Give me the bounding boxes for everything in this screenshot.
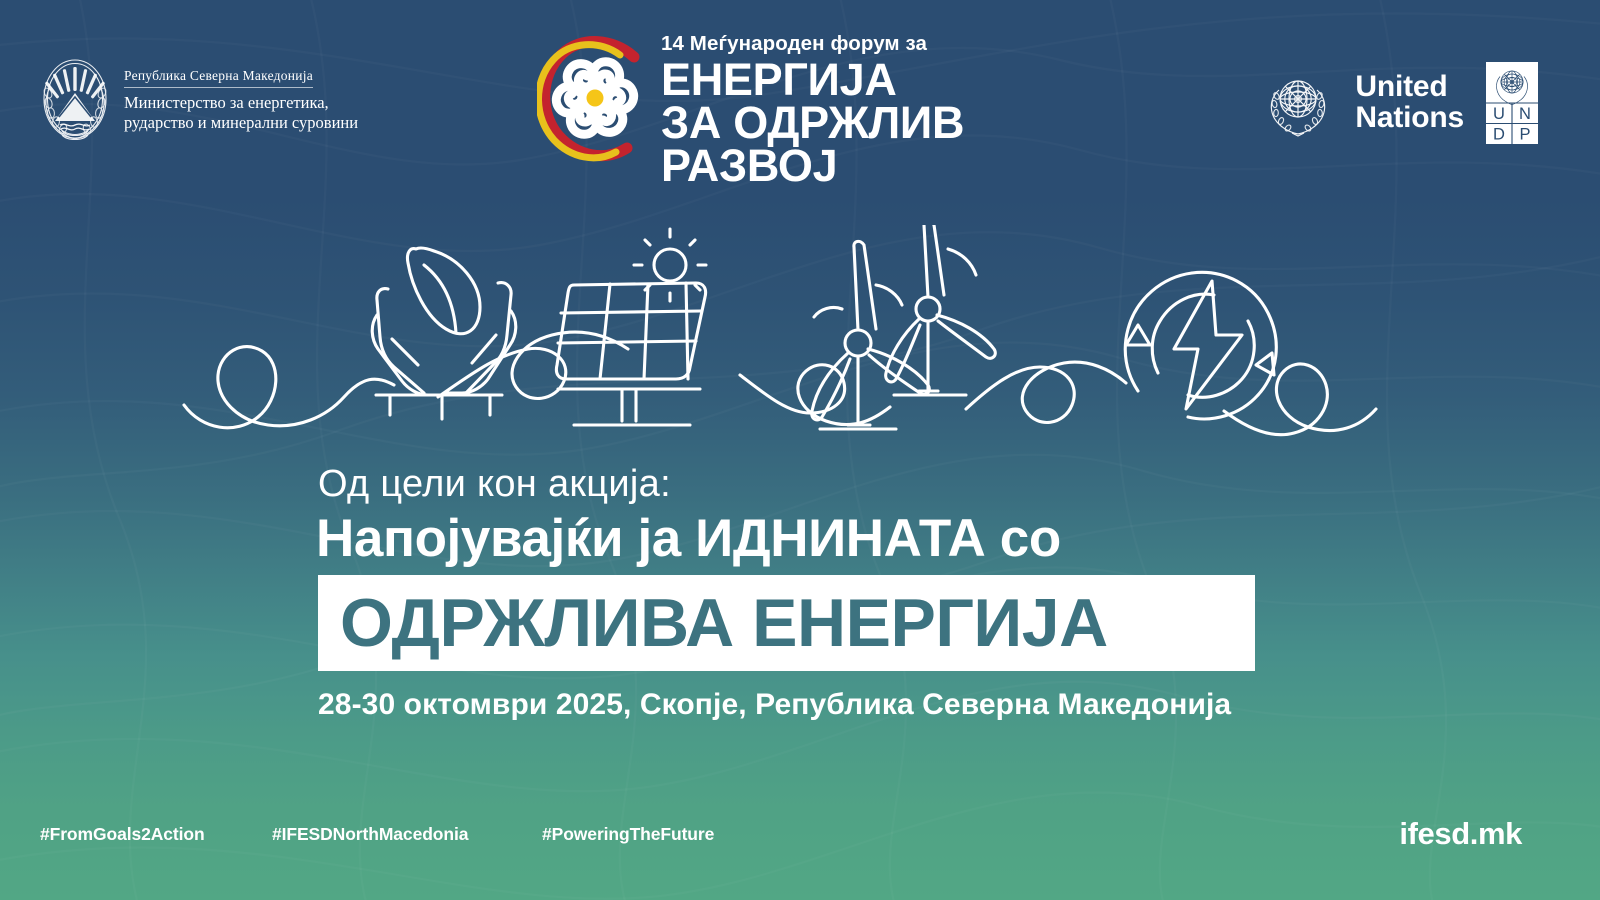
forum-title-line-3: РАЗВОЈ <box>661 145 964 187</box>
forum-title-line-1: ЕНЕРГИЈА <box>661 59 964 101</box>
macedonia-coat-of-arms-icon <box>38 55 112 143</box>
headline-text: Напојувајќи ја ИДНИНАТА со <box>0 509 1600 568</box>
forum-eyebrow-label: 14 Меѓународен форум за <box>661 34 964 55</box>
ifesd-flower-logo-icon <box>537 34 647 169</box>
website-link[interactable]: ifesd.mk <box>1399 816 1522 852</box>
headline-highlight-text: ОДРЖЛИВА ЕНЕРГИЈА <box>318 589 1108 657</box>
main-copy-block: Од цели кон акција: Напојувајќи ја ИДНИН… <box>0 462 1600 722</box>
hashtag-list: #FromGoals2Action #IFESDNorthMacedonia #… <box>40 824 714 845</box>
banner-footer: #FromGoals2Action #IFESDNorthMacedonia #… <box>0 780 1600 900</box>
hashtag-item[interactable]: #PoweringTheFuture <box>542 824 714 845</box>
svg-text:N: N <box>1519 105 1531 123</box>
event-banner: Република Северна Македонија Министерств… <box>0 0 1600 900</box>
hashtag-item[interactable]: #FromGoals2Action <box>40 824 272 845</box>
partner-logos: United Nations <box>1263 62 1538 144</box>
forum-title-line-2: ЗА ОДРЖЛИВ <box>661 102 964 144</box>
kicker-text: Од цели кон акција: <box>0 462 1600 507</box>
ministry-logo-lockup: Република Северна Македонија Министерств… <box>38 55 358 143</box>
headline-highlight-band: ОДРЖЛИВА ЕНЕРГИЈА <box>318 575 1255 671</box>
event-dateline: 28-30 октомври 2025, Скопје, Република С… <box>0 688 1600 722</box>
undp-logo-icon: U N D P <box>1486 62 1538 144</box>
ministry-text-block: Република Северна Македонија Министерств… <box>124 65 358 133</box>
forum-text-block: 14 Меѓународен форум за ЕНЕРГИЈА ЗА ОДРЖ… <box>661 30 964 187</box>
svg-text:P: P <box>1519 126 1530 144</box>
hashtag-item[interactable]: #IFESDNorthMacedonia <box>272 824 542 845</box>
renewable-energy-line-art <box>180 225 1410 445</box>
forum-title-lockup: 14 Меѓународен форум за ЕНЕРГИЈА ЗА ОДРЖ… <box>537 30 964 187</box>
svg-text:U: U <box>1493 105 1505 123</box>
un-emblem-icon <box>1263 68 1333 138</box>
un-name-label: United Nations <box>1355 72 1464 133</box>
svg-text:D: D <box>1493 126 1505 144</box>
ministry-country-label: Република Северна Македонија <box>124 68 313 88</box>
ministry-name-label: Министерство за енергетика, рударство и … <box>124 93 358 133</box>
banner-header: Република Северна Македонија Министерств… <box>0 0 1600 190</box>
